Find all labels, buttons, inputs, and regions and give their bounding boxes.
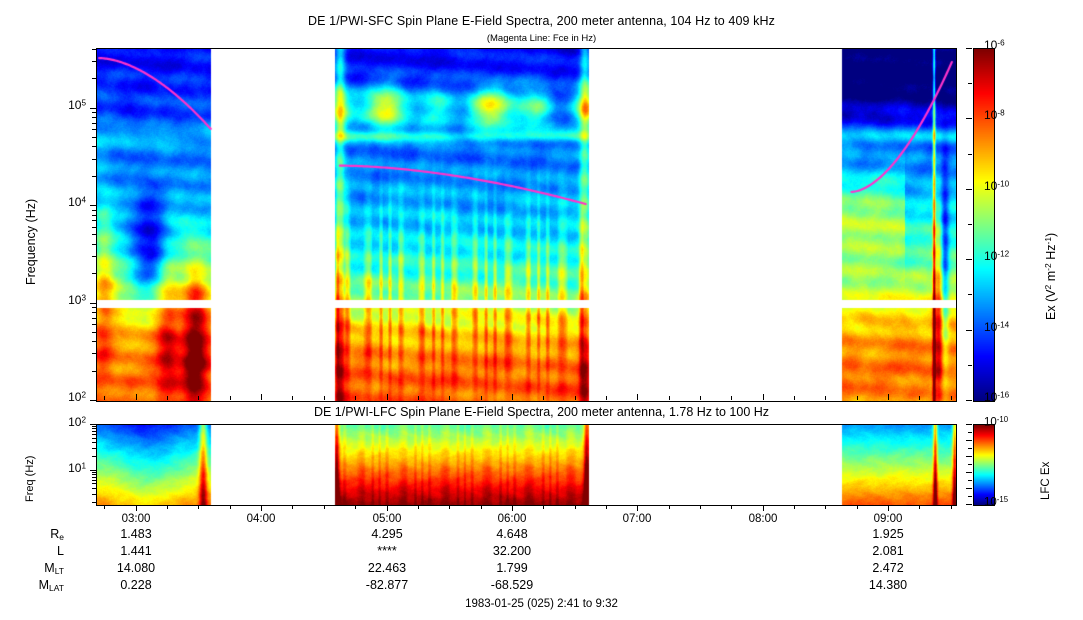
sfc-y-tick-minor <box>92 49 96 50</box>
sfc-y-tick-major <box>90 400 96 401</box>
lfc-y-tick-minor <box>92 434 96 435</box>
sfc-panel-subtitle: (Magenta Line: Fce in Hz) <box>0 33 1083 44</box>
sfc-time-tick <box>637 394 638 400</box>
lfc-y-tick-minor <box>92 426 96 427</box>
sfc-time-tick <box>951 396 952 400</box>
sfc-y-tick-minor <box>92 176 96 177</box>
sfc-y-tick-label: 105 <box>40 98 86 112</box>
sfc-cb-tick-major <box>966 330 972 331</box>
lfc-panel-title: DE 1/PWI-LFC Spin Plane E-Field Spectra,… <box>0 405 1083 419</box>
sfc-cb-tick-label: 10-8 <box>984 108 1044 122</box>
time-tick-major <box>136 505 137 511</box>
ephemeris-row-label-Re: Re <box>12 527 64 542</box>
sfc-y-tick-minor <box>92 227 96 228</box>
sfc-cb-tick-label: 10-10 <box>984 179 1044 193</box>
sfc-time-tick <box>449 396 450 400</box>
time-tick-minor <box>543 505 544 509</box>
sfc-y-tick-label: 103 <box>40 293 86 307</box>
ephemeris-value-MLT-1: 22.463 <box>342 561 432 575</box>
ephemeris-value-MLAT-2: -68.529 <box>467 578 557 592</box>
sfc-y-tick-minor <box>92 273 96 274</box>
ephemeris-row-label-MLAT: MLAT <box>12 578 64 593</box>
time-tick-minor <box>481 505 482 509</box>
time-tick-label: 08:00 <box>723 513 803 525</box>
lfc-y-tick-minor <box>92 428 96 429</box>
sfc-y-tick-minor <box>92 61 96 62</box>
time-tick-minor <box>857 505 858 509</box>
sfc-cb-tick-label: 10-6 <box>984 38 1044 52</box>
sfc-cb-tick-label: 10-14 <box>984 320 1044 334</box>
sfc-y-tick-minor <box>92 234 96 235</box>
time-tick-minor <box>198 505 199 509</box>
sfc-y-tick-minor <box>92 332 96 333</box>
lfc-y-tick-minor <box>92 472 96 473</box>
sfc-y-tick-minor <box>92 318 96 319</box>
lfc-cb-tick-major <box>966 472 972 473</box>
lfc-colorbar <box>973 424 995 506</box>
time-tick-major <box>512 505 513 511</box>
sfc-time-tick <box>700 396 701 400</box>
ephemeris-value-L-0: 1.441 <box>91 544 181 558</box>
lfc-cb-tick-label: 10-15 <box>984 495 1044 509</box>
sfc-time-tick <box>669 396 670 400</box>
time-tick-minor <box>167 505 168 509</box>
ephemeris-value-L-2: 32.200 <box>467 544 557 558</box>
sfc-y-tick-minor <box>92 215 96 216</box>
sfc-cb-tick-label: 10-12 <box>984 249 1044 263</box>
ephemeris-value-L-3: 2.081 <box>843 544 933 558</box>
ephemeris-value-L-1: **** <box>342 544 432 558</box>
sfc-time-tick <box>763 394 764 400</box>
lfc-y-tick-minor <box>92 438 96 439</box>
lfc-cb-tick-minor <box>968 480 972 481</box>
sfc-time-tick <box>794 396 795 400</box>
sfc-y-tick-minor <box>92 220 96 221</box>
sfc-y-axis-label: Frequency (Hz) <box>24 199 38 285</box>
time-tick-label: 05:00 <box>347 513 427 525</box>
lfc-colorbar-gradient <box>974 425 994 505</box>
time-tick-minor <box>669 505 670 509</box>
sfc-cb-tick-minor <box>968 365 972 366</box>
time-tick-minor <box>606 505 607 509</box>
time-tick-minor <box>951 505 952 509</box>
sfc-y-tick-minor <box>92 129 96 130</box>
sfc-cb-tick-major <box>966 118 972 119</box>
lfc-y-tick-minor <box>92 483 96 484</box>
lfc-y-tick-major <box>90 470 96 471</box>
ephemeris-table: Re1.4834.2954.6481.925L1.441****32.2002.… <box>0 527 1083 595</box>
sfc-spectrogram[interactable] <box>96 48 957 402</box>
lfc-cb-tick-major <box>966 440 972 441</box>
time-tick-label: 04:00 <box>221 513 301 525</box>
sfc-y-tick-minor <box>92 353 96 354</box>
ephemeris-value-MLT-2: 1.799 <box>467 561 557 575</box>
sfc-time-tick <box>136 394 137 400</box>
lfc-spectrogram[interactable] <box>96 424 957 506</box>
time-tick-label: 09:00 <box>848 513 928 525</box>
sfc-time-tick <box>198 396 199 400</box>
ephemeris-value-MLT-0: 14.080 <box>91 561 181 575</box>
sfc-y-tick-minor <box>92 324 96 325</box>
time-tick-major <box>763 505 764 511</box>
sfc-y-tick-minor <box>92 159 96 160</box>
sfc-time-tick <box>575 396 576 400</box>
sfc-cb-tick-major <box>966 189 972 190</box>
time-tick-minor <box>731 505 732 509</box>
lfc-spectrogram-canvas <box>97 425 956 505</box>
sfc-y-tick-minor <box>92 341 96 342</box>
sfc-colorbar <box>973 48 995 402</box>
lfc-cb-tick-minor <box>968 448 972 449</box>
sfc-y-tick-minor <box>92 117 96 118</box>
sfc-cb-tick-major <box>966 259 972 260</box>
lfc-y-tick-minor <box>92 502 96 503</box>
sfc-y-tick-major <box>90 108 96 109</box>
ephemeris-value-MLAT-0: 0.228 <box>91 578 181 592</box>
sfc-y-tick-minor <box>92 210 96 211</box>
lfc-y-tick-minor <box>92 477 96 478</box>
lfc-y-tick-label: 102 <box>42 415 86 429</box>
lfc-y-tick-minor <box>92 431 96 432</box>
sfc-time-tick <box>387 394 388 400</box>
lfc-y-tick-label: 101 <box>42 461 86 475</box>
lfc-colorbar-label: LFC Ex <box>1040 462 1052 500</box>
sfc-y-tick-minor <box>92 123 96 124</box>
sfc-time-tick <box>825 396 826 400</box>
sfc-time-tick <box>230 396 231 400</box>
sfc-y-tick-minor <box>92 371 96 372</box>
lfc-y-axis-label: Freq (Hz) <box>24 456 36 502</box>
lfc-y-tick-minor <box>92 456 96 457</box>
lfc-y-tick-minor <box>92 494 96 495</box>
sfc-colorbar-label: Ex (V2 m-2 Hz-1) <box>1043 233 1058 320</box>
lfc-y-tick-minor <box>92 480 96 481</box>
ephemeris-value-MLAT-1: -82.877 <box>342 578 432 592</box>
sfc-cb-tick-major <box>966 48 972 49</box>
ephemeris-value-MLT-3: 2.472 <box>843 561 933 575</box>
lfc-y-tick-minor <box>92 474 96 475</box>
sfc-colorbar-gradient <box>974 49 994 401</box>
lfc-cb-tick-minor <box>968 432 972 433</box>
time-tick-minor <box>355 505 356 509</box>
time-tick-major <box>637 505 638 511</box>
ephemeris-value-MLAT-3: 14.380 <box>843 578 933 592</box>
time-tick-minor <box>230 505 231 509</box>
ephemeris-row-label-MLT: MLT <box>12 561 64 576</box>
sfc-cb-tick-minor <box>968 83 972 84</box>
date-caption: 1983-01-25 (025) 2:41 to 9:32 <box>0 598 1083 610</box>
time-tick-minor <box>324 505 325 509</box>
time-tick-label: 07:00 <box>597 513 677 525</box>
sfc-y-tick-minor <box>92 112 96 113</box>
sfc-cb-tick-major <box>966 400 972 401</box>
sfc-y-tick-minor <box>92 256 96 257</box>
sfc-time-tick <box>418 396 419 400</box>
sfc-time-tick <box>888 394 889 400</box>
ephemeris-value-Re-2: 4.648 <box>467 527 557 541</box>
sfc-spectrogram-canvas <box>97 49 956 401</box>
time-tick-minor <box>919 505 920 509</box>
time-tick-major <box>261 505 262 511</box>
time-tick-minor <box>700 505 701 509</box>
lfc-y-tick-minor <box>92 448 96 449</box>
sfc-y-tick-minor <box>92 137 96 138</box>
sfc-cb-tick-minor <box>968 294 972 295</box>
sfc-cb-tick-minor <box>968 154 972 155</box>
time-tick-minor <box>794 505 795 509</box>
sfc-time-tick <box>731 396 732 400</box>
lfc-cb-tick-label: 10-10 <box>984 415 1044 429</box>
ephemeris-row-label-L: L <box>12 544 64 558</box>
ephemeris-value-Re-0: 1.483 <box>91 527 181 541</box>
lfc-cb-tick-major <box>966 504 972 505</box>
sfc-y-tick-major <box>90 205 96 206</box>
time-tick-major <box>387 505 388 511</box>
time-tick-minor <box>575 505 576 509</box>
sfc-time-tick <box>606 396 607 400</box>
sfc-time-tick <box>481 396 482 400</box>
sfc-cb-tick-label: 10-16 <box>984 390 1044 404</box>
time-tick-minor <box>449 505 450 509</box>
sfc-time-tick <box>919 396 920 400</box>
lfc-cb-tick-minor <box>968 496 972 497</box>
time-tick-major <box>888 505 889 511</box>
time-tick-minor <box>292 505 293 509</box>
time-tick-minor <box>104 505 105 509</box>
lfc-y-tick-major <box>90 424 96 425</box>
sfc-time-tick <box>355 396 356 400</box>
sfc-time-tick <box>292 396 293 400</box>
sfc-time-tick <box>512 394 513 400</box>
sfc-y-tick-label: 102 <box>40 390 86 404</box>
sfc-time-tick <box>324 396 325 400</box>
sfc-time-tick <box>167 396 168 400</box>
ephemeris-value-Re-1: 4.295 <box>342 527 432 541</box>
sfc-y-tick-label: 104 <box>40 195 86 209</box>
lfc-y-tick-minor <box>92 442 96 443</box>
sfc-y-tick-minor <box>92 78 96 79</box>
lfc-cb-tick-major <box>966 456 972 457</box>
sfc-time-tick <box>543 396 544 400</box>
sfc-time-tick <box>261 394 262 400</box>
time-tick-minor <box>418 505 419 509</box>
sfc-y-tick-major <box>90 303 96 304</box>
sfc-time-tick <box>104 396 105 400</box>
time-tick-label: 03:00 <box>96 513 176 525</box>
sfc-panel-title: DE 1/PWI-SFC Spin Plane E-Field Spectra,… <box>0 14 1083 28</box>
sfc-y-tick-minor <box>92 307 96 308</box>
lfc-cb-tick-minor <box>968 464 972 465</box>
time-tick-minor <box>825 505 826 509</box>
lfc-y-tick-minor <box>92 488 96 489</box>
time-tick-label: 06:00 <box>472 513 552 525</box>
sfc-y-tick-minor <box>92 244 96 245</box>
sfc-y-tick-minor <box>92 146 96 147</box>
lfc-cb-tick-major <box>966 488 972 489</box>
lfc-cb-tick-major <box>966 424 972 425</box>
ephemeris-value-Re-3: 1.925 <box>843 527 933 541</box>
sfc-time-tick <box>857 396 858 400</box>
sfc-y-tick-minor <box>92 312 96 313</box>
sfc-cb-tick-minor <box>968 224 972 225</box>
